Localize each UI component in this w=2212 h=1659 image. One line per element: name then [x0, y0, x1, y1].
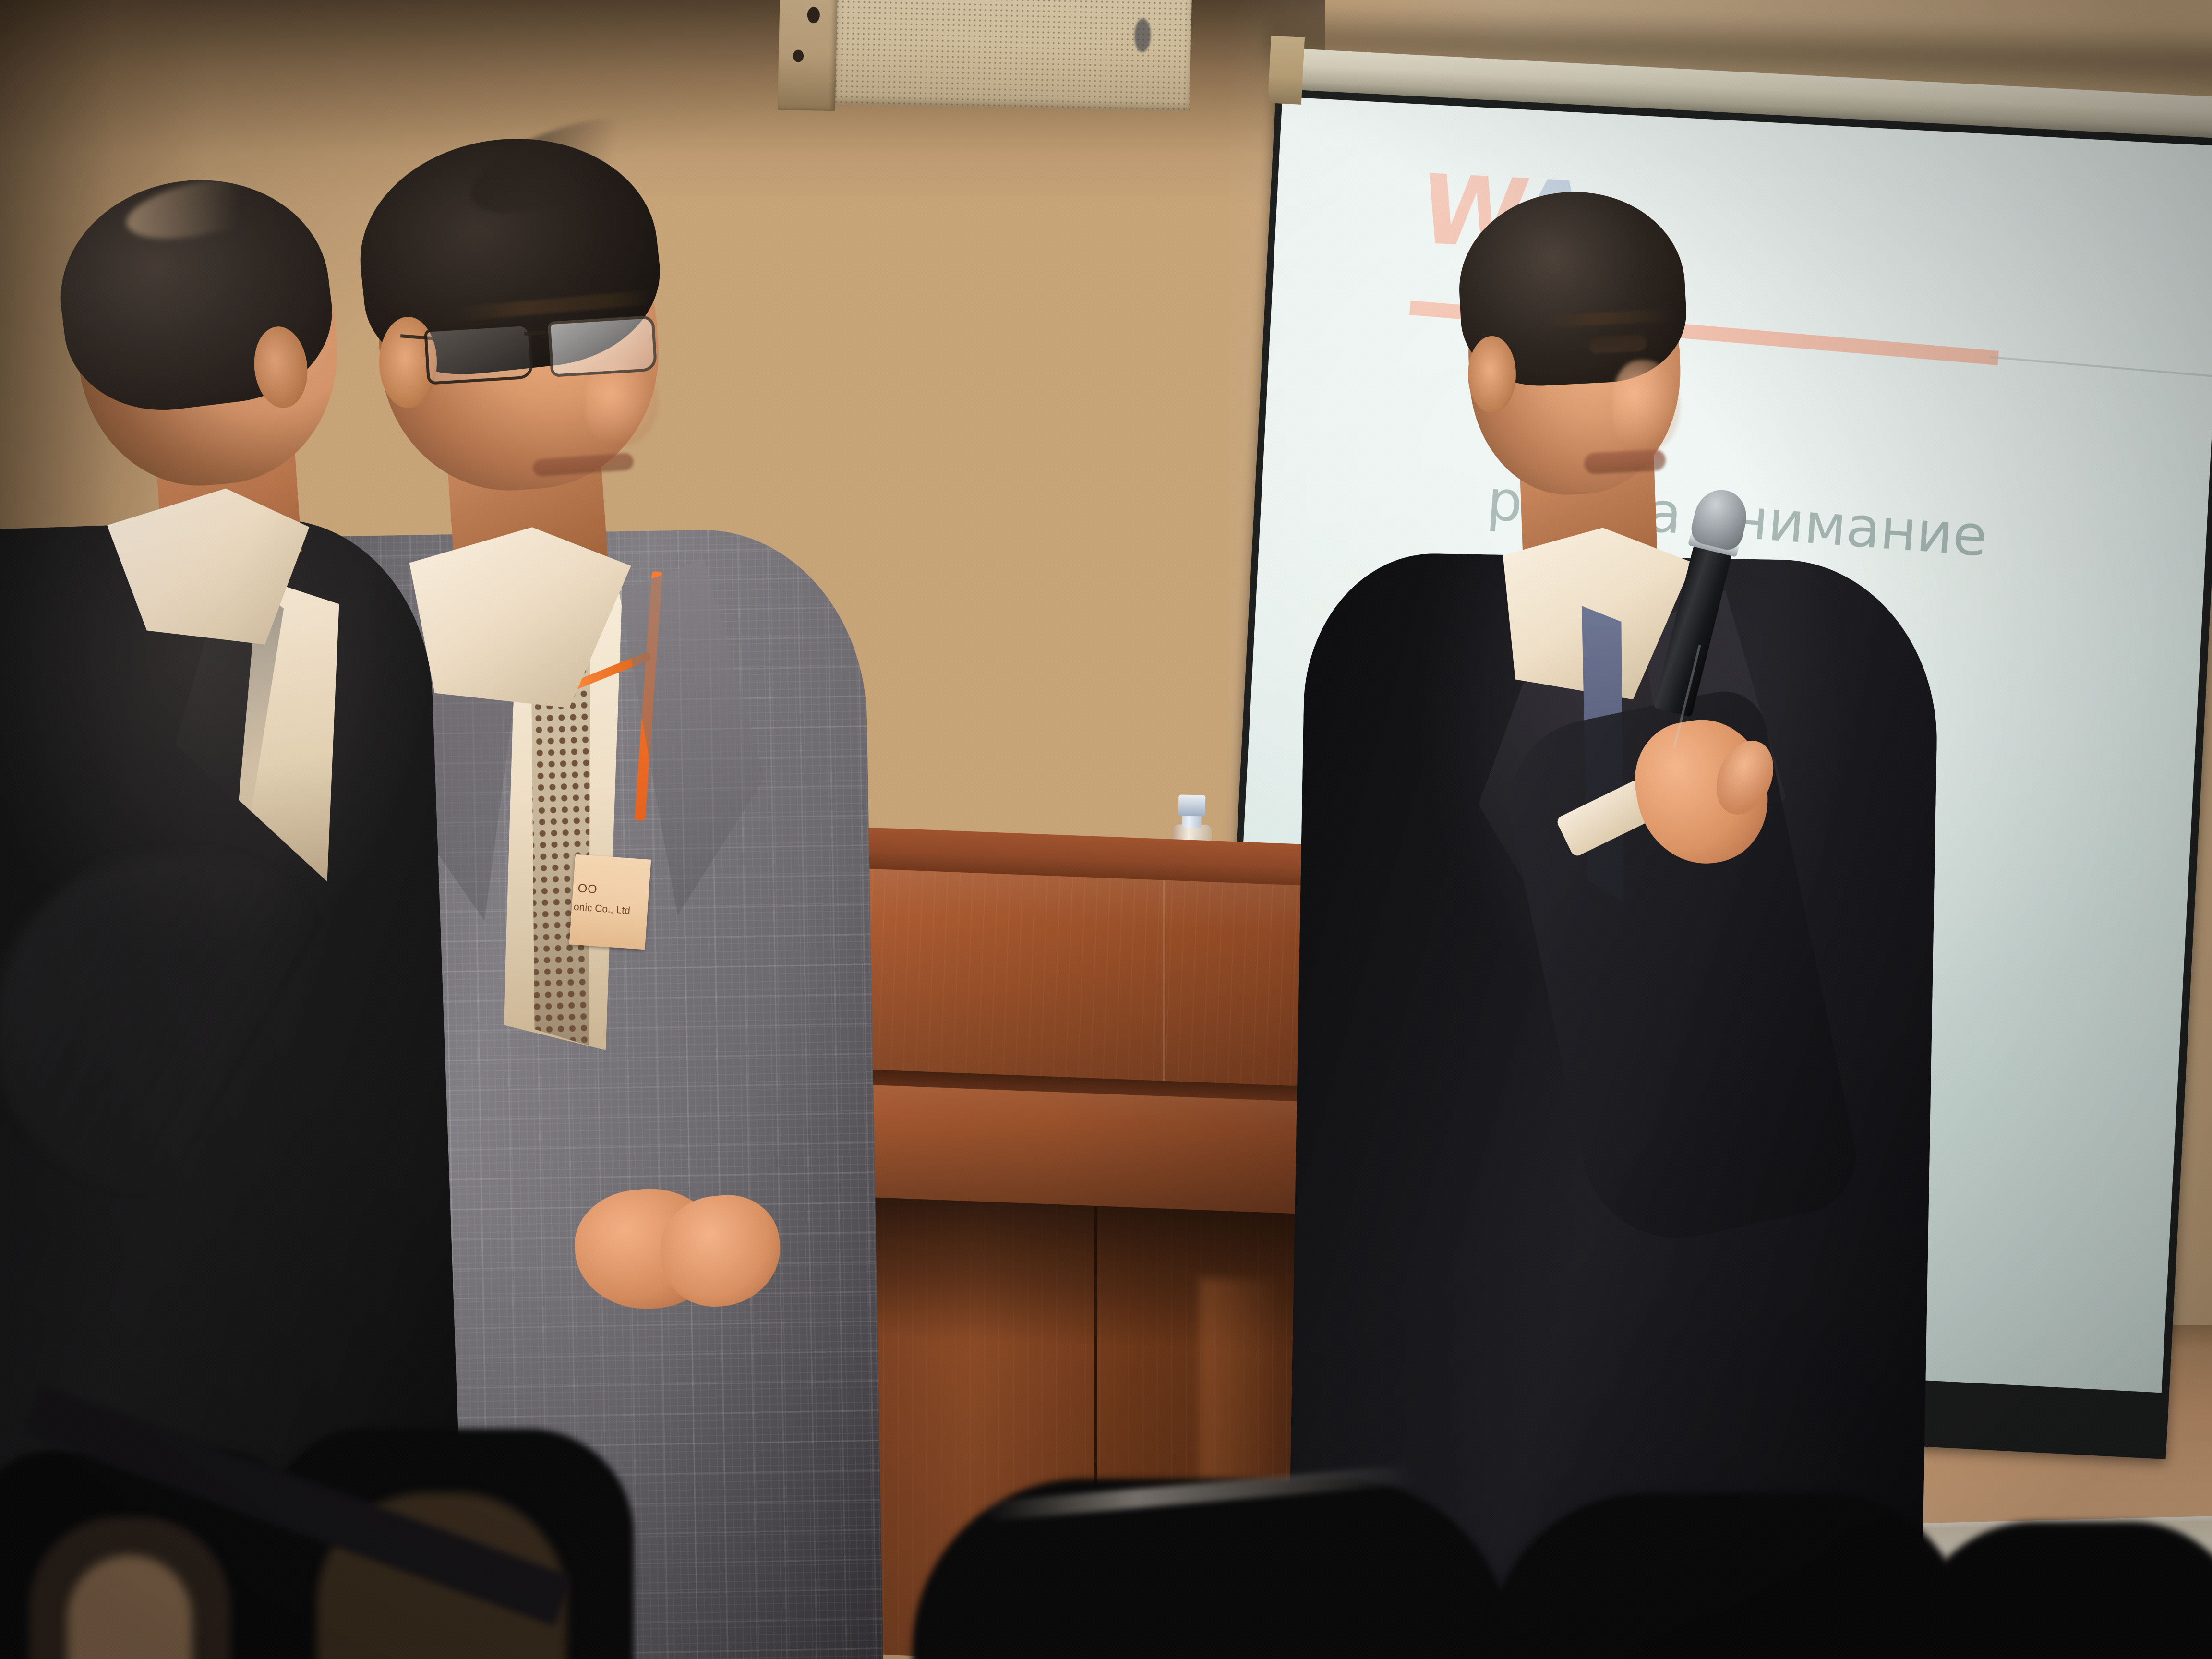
badge-name-text: OO	[577, 881, 598, 897]
speaker-nose	[1613, 360, 1680, 451]
mid-name-badge: OO onic Co., Ltd	[569, 854, 651, 950]
podium-front-crease	[1163, 869, 1165, 1081]
badge-company-text: onic Co., Ltd	[573, 902, 630, 917]
podium-base-highlight	[1200, 1278, 1282, 1588]
left-arm-shadow	[0, 854, 341, 1190]
slide-hairline	[1990, 356, 2212, 378]
person-speaker	[1382, 192, 1911, 1659]
podium-base	[869, 1193, 1354, 1659]
glasses-lens-right	[548, 315, 658, 377]
speaker-eye	[1588, 335, 1647, 354]
conference-photo-scene: WA рим за внимание	[0, 0, 2212, 1659]
screen-roller-endcap	[1268, 36, 1305, 104]
person-panelist-left	[0, 192, 475, 1659]
speaker-mouth	[1584, 449, 1666, 475]
bottle-cap	[1178, 794, 1206, 816]
speaker-ear	[1468, 336, 1516, 413]
mid-clasped-hands	[568, 1166, 790, 1345]
podium-panel-seam	[1094, 1202, 1097, 1659]
